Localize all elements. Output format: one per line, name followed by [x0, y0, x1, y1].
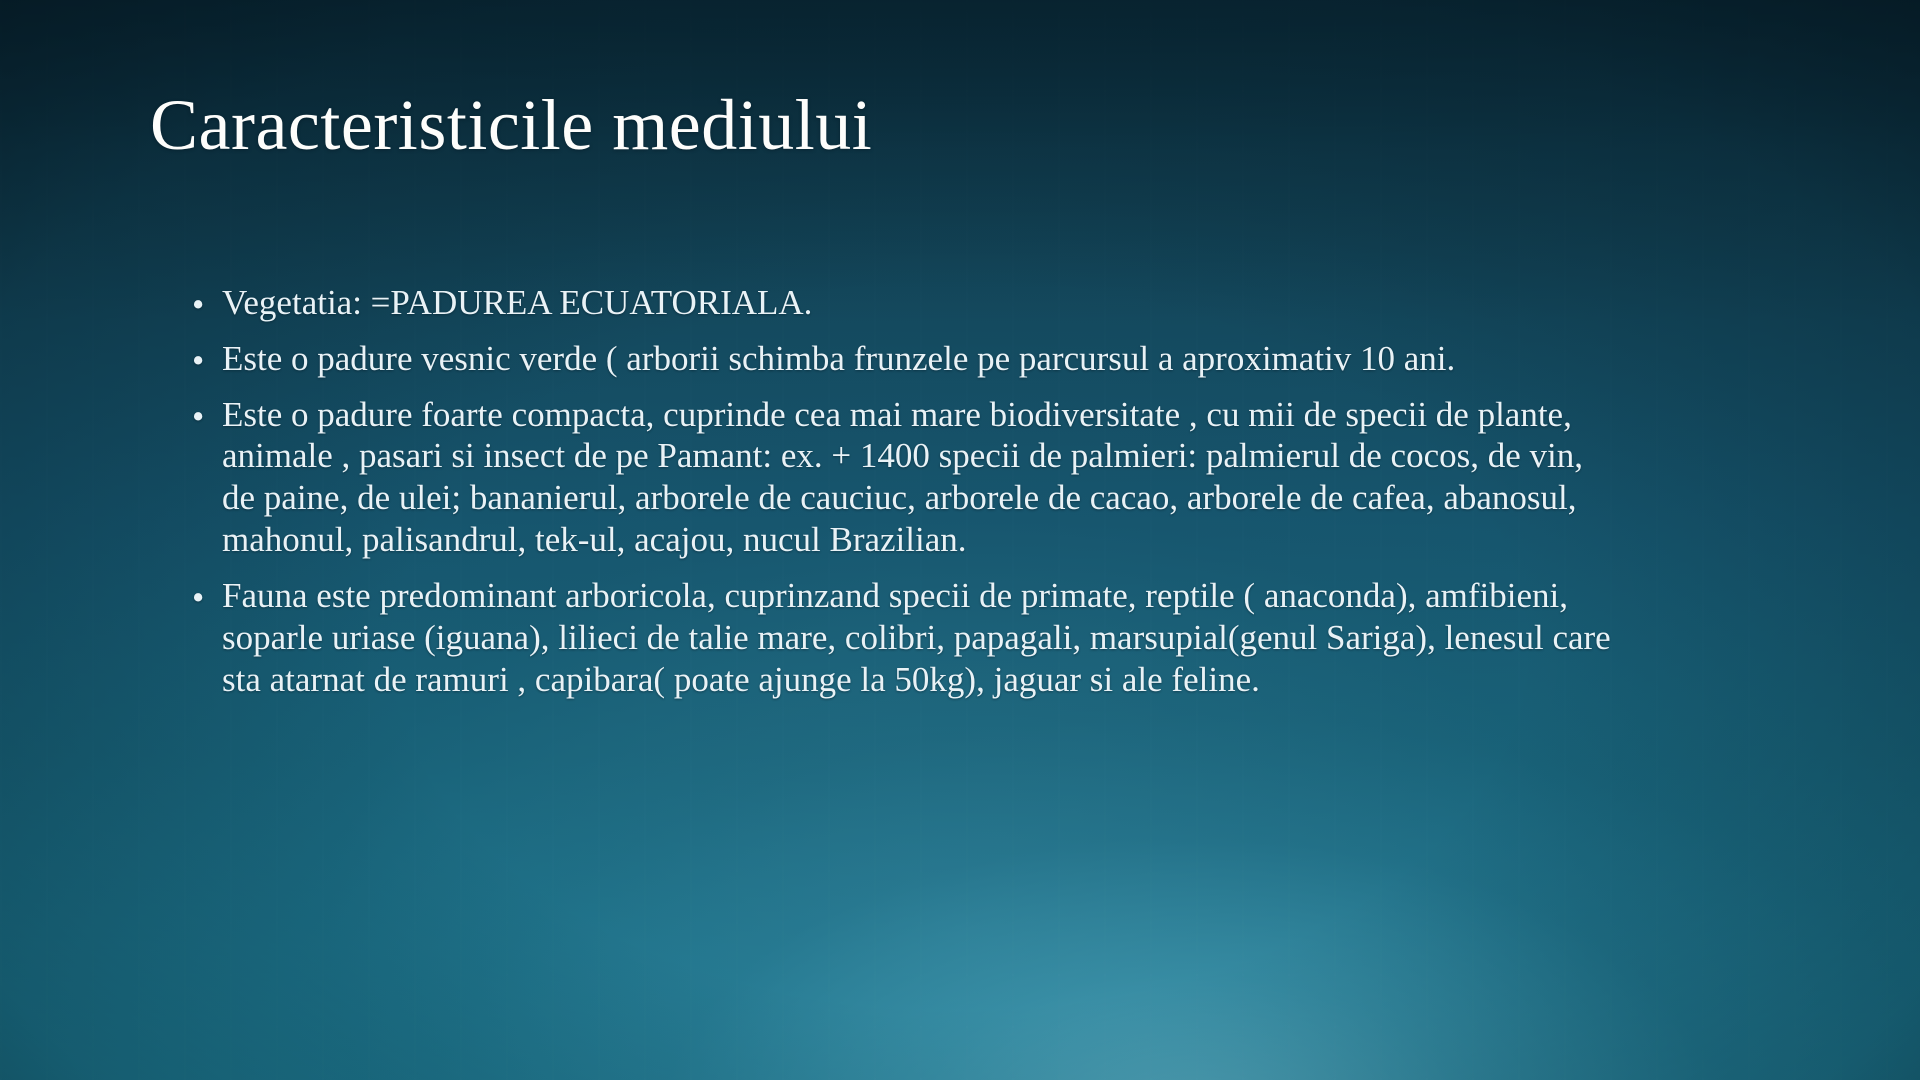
- bullet-item-padure-compacta: • Este o padure foarte compacta, cuprind…: [188, 394, 1617, 561]
- presentation-slide: Caracteristicile mediului • Vegetatia: =…: [0, 0, 1920, 1080]
- title-placeholder: Caracteristicile mediului: [150, 88, 1790, 164]
- bullet-point-icon: •: [192, 340, 204, 382]
- bullet-point-icon: •: [192, 396, 204, 438]
- bullet-item-vegetatia: • Vegetatia: =PADUREA ECUATORIALA.: [188, 282, 1522, 324]
- bullet-item-padure-vesnic-verde: • Este o padure vesnic verde ( arborii s…: [188, 338, 1502, 380]
- bullet-item-fauna: • Fauna este predominant arboricola, cup…: [188, 575, 1612, 700]
- bullet-item-text: Vegetatia: =PADUREA ECUATORIALA.: [222, 282, 1522, 324]
- bullet-item-text: Este o padure foarte compacta, cuprinde …: [222, 394, 1617, 561]
- bullet-item-text: Este o padure vesnic verde ( arborii sch…: [222, 338, 1502, 380]
- bullet-item-text: Fauna este predominant arboricola, cupri…: [222, 575, 1612, 700]
- body-placeholder: • Vegetatia: =PADUREA ECUATORIALA. • Est…: [188, 282, 1828, 700]
- bullet-list: • Vegetatia: =PADUREA ECUATORIALA. • Est…: [188, 282, 1828, 700]
- page-title: Caracteristicile mediului: [150, 88, 1790, 164]
- bullet-point-icon: •: [192, 284, 204, 326]
- bullet-point-icon: •: [192, 577, 204, 619]
- slide-content: Caracteristicile mediului • Vegetatia: =…: [0, 0, 1920, 1080]
